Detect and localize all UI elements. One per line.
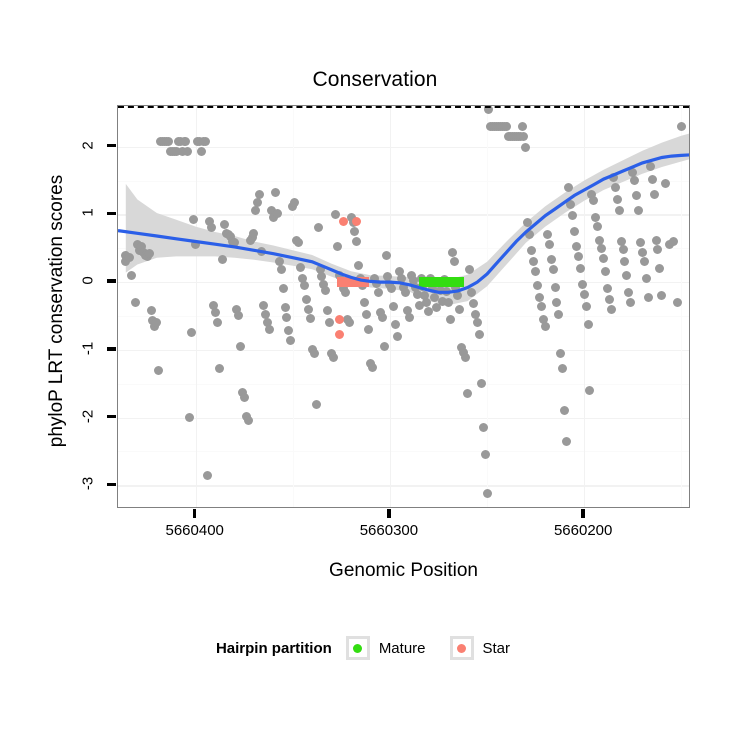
data-point: [341, 288, 350, 297]
data-point: [378, 313, 387, 322]
data-point: [279, 284, 288, 293]
legend-color-dot: [457, 644, 466, 653]
data-point: [533, 281, 542, 290]
gridline-y-minor: [118, 316, 689, 317]
data-point: [477, 379, 486, 388]
data-point: [620, 257, 629, 266]
y-axis-tick-label: 1: [80, 200, 97, 226]
data-point: [622, 271, 631, 280]
data-point: [389, 302, 398, 311]
legend: Hairpin partition MatureStar: [0, 636, 750, 660]
data-point: [601, 267, 610, 276]
data-point: [259, 301, 268, 310]
data-point: [220, 220, 229, 229]
data-point: [607, 305, 616, 314]
data-point: [265, 325, 274, 334]
data-point: [519, 132, 528, 141]
data-point: [467, 288, 476, 297]
data-point: [455, 305, 464, 314]
data-point: [605, 295, 614, 304]
data-point: [545, 240, 554, 249]
data-point: [609, 173, 618, 182]
y-axis-tick-label: -2: [80, 403, 97, 429]
y-axis-tick-mark: [107, 483, 116, 486]
data-point: [473, 318, 482, 327]
legend-color-dot: [353, 644, 362, 653]
data-point: [597, 244, 606, 253]
data-point: [312, 400, 321, 409]
data-point: [255, 190, 264, 199]
zero-reference-line: [118, 106, 689, 108]
data-point: [372, 279, 381, 288]
gridline-x: [196, 106, 197, 507]
data-point: [535, 293, 544, 302]
data-point: [302, 295, 311, 304]
data-point: [401, 288, 410, 297]
data-point: [523, 218, 532, 227]
data-point: [213, 318, 222, 327]
data-point: [529, 257, 538, 266]
y-axis-tick-mark: [107, 279, 116, 282]
legend-item-star[interactable]: Star: [450, 636, 525, 660]
data-point: [380, 342, 389, 351]
data-point: [244, 416, 253, 425]
data-point: [584, 320, 593, 329]
legend-item-label: Mature: [379, 640, 426, 657]
data-point: [568, 211, 577, 220]
data-point: [630, 176, 639, 185]
data-point: [657, 291, 666, 300]
data-point: [393, 332, 402, 341]
data-point: [619, 245, 628, 254]
x-axis-tick-mark: [193, 509, 196, 518]
data-point: [290, 198, 299, 207]
data-point: [418, 282, 427, 291]
data-point: [650, 190, 659, 199]
data-point: [655, 264, 664, 273]
page-title: Conservation: [0, 68, 750, 92]
data-point: [518, 122, 527, 131]
data-point: [382, 251, 391, 260]
data-point: [566, 200, 575, 209]
data-point: [560, 406, 569, 415]
data-point: [125, 253, 134, 262]
legend-items: MatureStar: [346, 636, 534, 660]
data-point: [465, 265, 474, 274]
data-point: [541, 322, 550, 331]
data-point: [483, 489, 492, 498]
data-point: [585, 386, 594, 395]
data-point: [306, 314, 315, 323]
data-point: [450, 257, 459, 266]
data-point: [453, 291, 462, 300]
y-axis-tick-mark: [107, 212, 116, 215]
gridline-y: [118, 214, 689, 215]
x-axis-tick-label: 5660300: [329, 522, 449, 539]
data-point: [215, 364, 224, 373]
data-point: [652, 236, 661, 245]
data-point: [152, 318, 161, 327]
data-point: [240, 393, 249, 402]
data-point: [405, 313, 414, 322]
data-point: [391, 320, 400, 329]
data-point: [281, 303, 290, 312]
gridline-y-minor: [118, 181, 689, 182]
data-point: [626, 298, 635, 307]
legend-item-label: Star: [483, 640, 511, 657]
y-axis-tick-label: 2: [80, 132, 97, 158]
data-point: [640, 257, 649, 266]
data-point: [677, 122, 686, 131]
data-point: [632, 191, 641, 200]
data-point: [354, 261, 363, 270]
data-point: [638, 248, 647, 257]
conservation-plot-figure: Conservation phyloP LRT conservation sco…: [0, 0, 750, 750]
data-point: [552, 298, 561, 307]
data-point: [549, 265, 558, 274]
data-point: [558, 364, 567, 373]
data-point: [335, 330, 344, 339]
data-point: [582, 302, 591, 311]
data-point: [440, 275, 449, 284]
data-point: [475, 330, 484, 339]
data-point: [599, 254, 608, 263]
data-point: [644, 293, 653, 302]
gridline-x-minor: [293, 106, 294, 507]
data-point: [358, 281, 367, 290]
data-point: [230, 238, 239, 247]
data-point: [527, 246, 536, 255]
data-point: [352, 217, 361, 226]
data-point: [636, 238, 645, 247]
data-point: [570, 227, 579, 236]
data-point: [525, 230, 534, 239]
data-point: [296, 263, 305, 272]
y-axis-tick-mark: [107, 347, 116, 350]
data-point: [185, 413, 194, 422]
data-point: [387, 284, 396, 293]
data-point: [642, 274, 651, 283]
data-point: [521, 143, 530, 152]
plot-panel: [117, 105, 690, 508]
data-point: [304, 305, 313, 314]
data-point: [444, 298, 453, 307]
data-point: [164, 137, 173, 146]
data-point: [589, 196, 598, 205]
y-axis-tick-label: -1: [80, 335, 97, 361]
data-point: [374, 288, 383, 297]
data-point: [300, 281, 309, 290]
data-point: [448, 248, 457, 257]
data-point: [446, 315, 455, 324]
x-axis-tick-label: 5660200: [523, 522, 643, 539]
data-point: [360, 298, 369, 307]
data-point: [207, 223, 216, 232]
data-point: [325, 318, 334, 327]
data-point: [481, 450, 490, 459]
y-axis-tick-mark: [107, 144, 116, 147]
data-point: [286, 336, 295, 345]
y-axis-tick-mark: [107, 415, 116, 418]
data-point: [310, 349, 319, 358]
data-point: [653, 245, 662, 254]
gridline-x-minor: [681, 106, 682, 507]
data-point: [345, 318, 354, 327]
data-point: [277, 265, 286, 274]
gridline-y-minor: [118, 384, 689, 385]
data-point: [329, 353, 338, 362]
data-point: [562, 437, 571, 446]
data-point: [564, 183, 573, 192]
data-point: [127, 271, 136, 280]
data-point: [154, 366, 163, 375]
data-point: [323, 306, 332, 315]
data-point: [282, 313, 291, 322]
data-point: [350, 227, 359, 236]
data-point: [547, 255, 556, 264]
data-point: [554, 310, 563, 319]
data-point: [339, 217, 348, 226]
data-point: [502, 122, 511, 131]
data-point: [479, 423, 488, 432]
data-point: [236, 342, 245, 351]
gridline-y-minor: [118, 451, 689, 452]
y-axis-tick-label: -3: [80, 471, 97, 497]
data-point: [335, 315, 344, 324]
data-point: [145, 249, 154, 258]
data-point: [183, 147, 192, 156]
data-point: [646, 162, 655, 171]
gridline-y: [118, 350, 689, 351]
data-point: [469, 299, 478, 308]
legend-key-box: [346, 636, 370, 660]
data-point: [543, 230, 552, 239]
y-axis-tick-label: 0: [80, 268, 97, 294]
data-point: [551, 283, 560, 292]
gridline-y: [118, 418, 689, 419]
data-point: [669, 237, 678, 246]
data-point: [580, 290, 589, 299]
legend-key-box: [450, 636, 474, 660]
data-point: [271, 188, 280, 197]
data-point: [531, 267, 540, 276]
data-point: [673, 298, 682, 307]
data-point: [624, 288, 633, 297]
data-point: [273, 209, 282, 218]
data-point: [574, 252, 583, 261]
data-point: [572, 242, 581, 251]
legend-title: Hairpin partition: [216, 640, 332, 657]
gridline-y: [118, 485, 689, 486]
data-point: [131, 298, 140, 307]
data-point: [593, 222, 602, 231]
data-point: [333, 242, 342, 251]
data-point: [442, 287, 451, 296]
data-point: [591, 213, 600, 222]
data-point: [321, 286, 330, 295]
x-axis-tick-mark: [387, 509, 390, 518]
data-point: [613, 195, 622, 204]
data-point: [197, 147, 206, 156]
data-point: [257, 247, 266, 256]
data-point: [201, 137, 210, 146]
data-point: [218, 255, 227, 264]
data-point: [364, 325, 373, 334]
data-point: [578, 280, 587, 289]
data-point: [537, 302, 546, 311]
data-point: [211, 308, 220, 317]
legend-item-mature[interactable]: Mature: [346, 636, 440, 660]
data-point: [314, 223, 323, 232]
x-axis-tick-label: 5660400: [135, 522, 255, 539]
data-point: [147, 306, 156, 315]
y-axis-label: phyloP LRT conservation scores: [46, 101, 68, 521]
data-point: [611, 183, 620, 192]
data-point: [461, 353, 470, 362]
data-point: [576, 264, 585, 273]
data-point: [661, 179, 670, 188]
data-point: [463, 389, 472, 398]
data-point: [234, 311, 243, 320]
data-point: [331, 210, 340, 219]
x-axis-label: Genomic Position: [117, 560, 690, 582]
x-axis-tick-mark: [581, 509, 584, 518]
data-point: [556, 349, 565, 358]
data-point: [181, 137, 190, 146]
data-point: [603, 284, 612, 293]
data-point: [294, 238, 303, 247]
data-point: [368, 363, 377, 372]
data-point: [352, 237, 361, 246]
gridline-x-minor: [487, 106, 488, 507]
data-point: [362, 310, 371, 319]
data-point: [249, 229, 258, 238]
data-point: [203, 471, 212, 480]
data-point: [253, 198, 262, 207]
data-point: [648, 175, 657, 184]
